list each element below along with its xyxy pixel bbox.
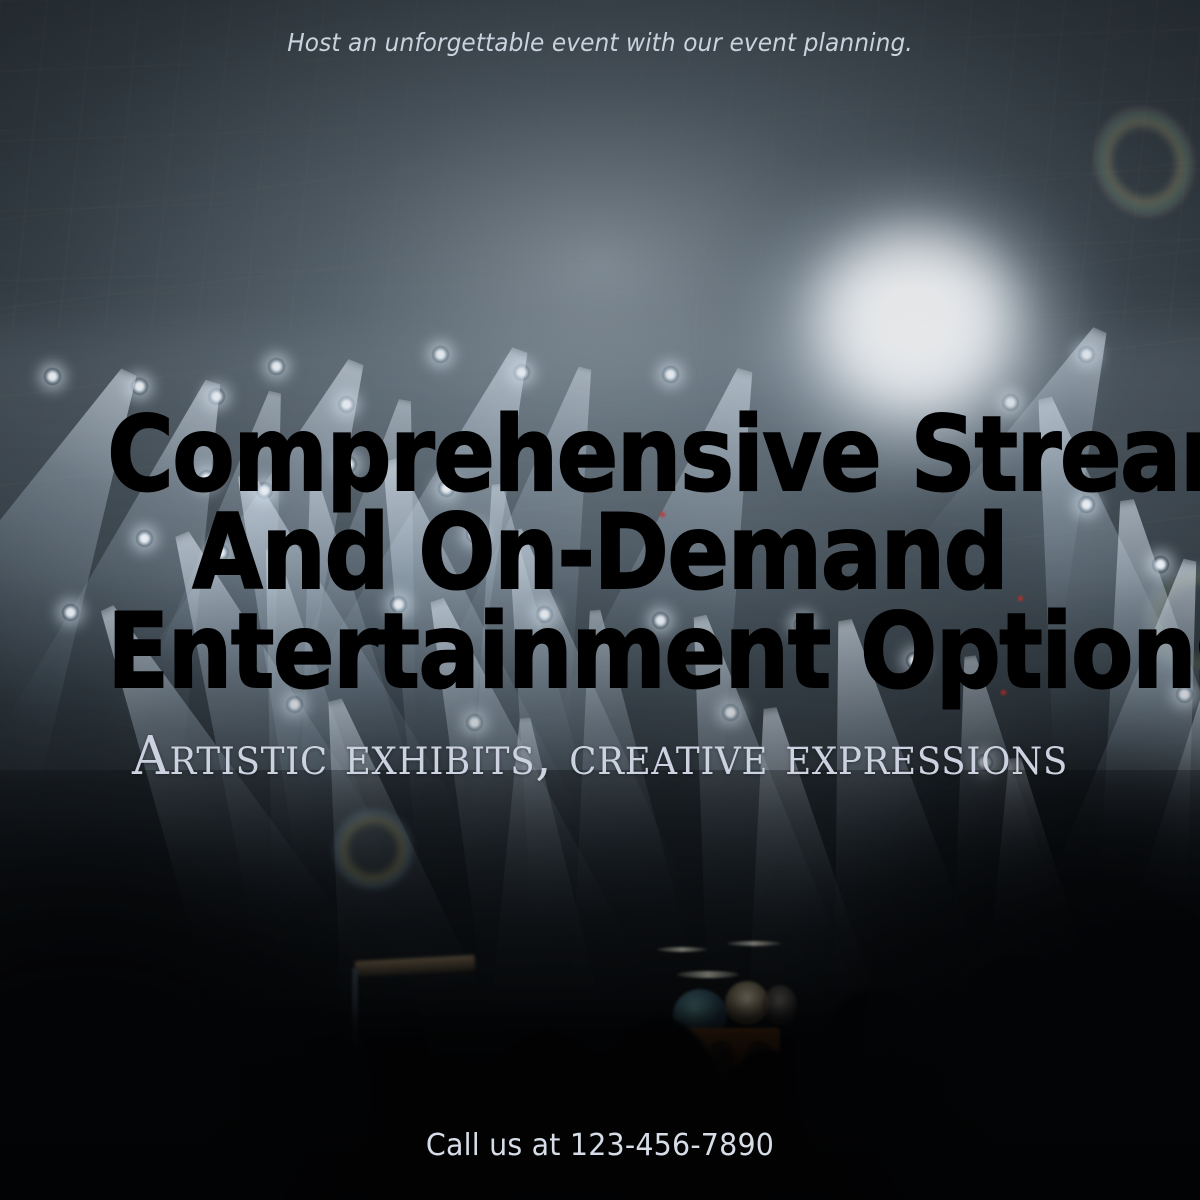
tagline-text: Host an unforgettable event with our eve… (42, 28, 1158, 57)
contact-phone-text: Call us at 123-456-7890 (30, 1128, 1170, 1163)
headline-line-1: Comprehensive Streaming (107, 406, 1093, 504)
event-promo-poster: Host an unforgettable event with our eve… (0, 0, 1200, 1200)
headline-line-2: And On-Demand (107, 504, 1093, 602)
poster-content: Host an unforgettable event with our eve… (0, 0, 1200, 1200)
headline-line-3: Entertainment Options (107, 603, 1093, 701)
page-title: Comprehensive Streaming And On-Demand En… (107, 406, 1093, 701)
subtitle-text: Artistic exhibits, creative expressions (24, 726, 1176, 787)
